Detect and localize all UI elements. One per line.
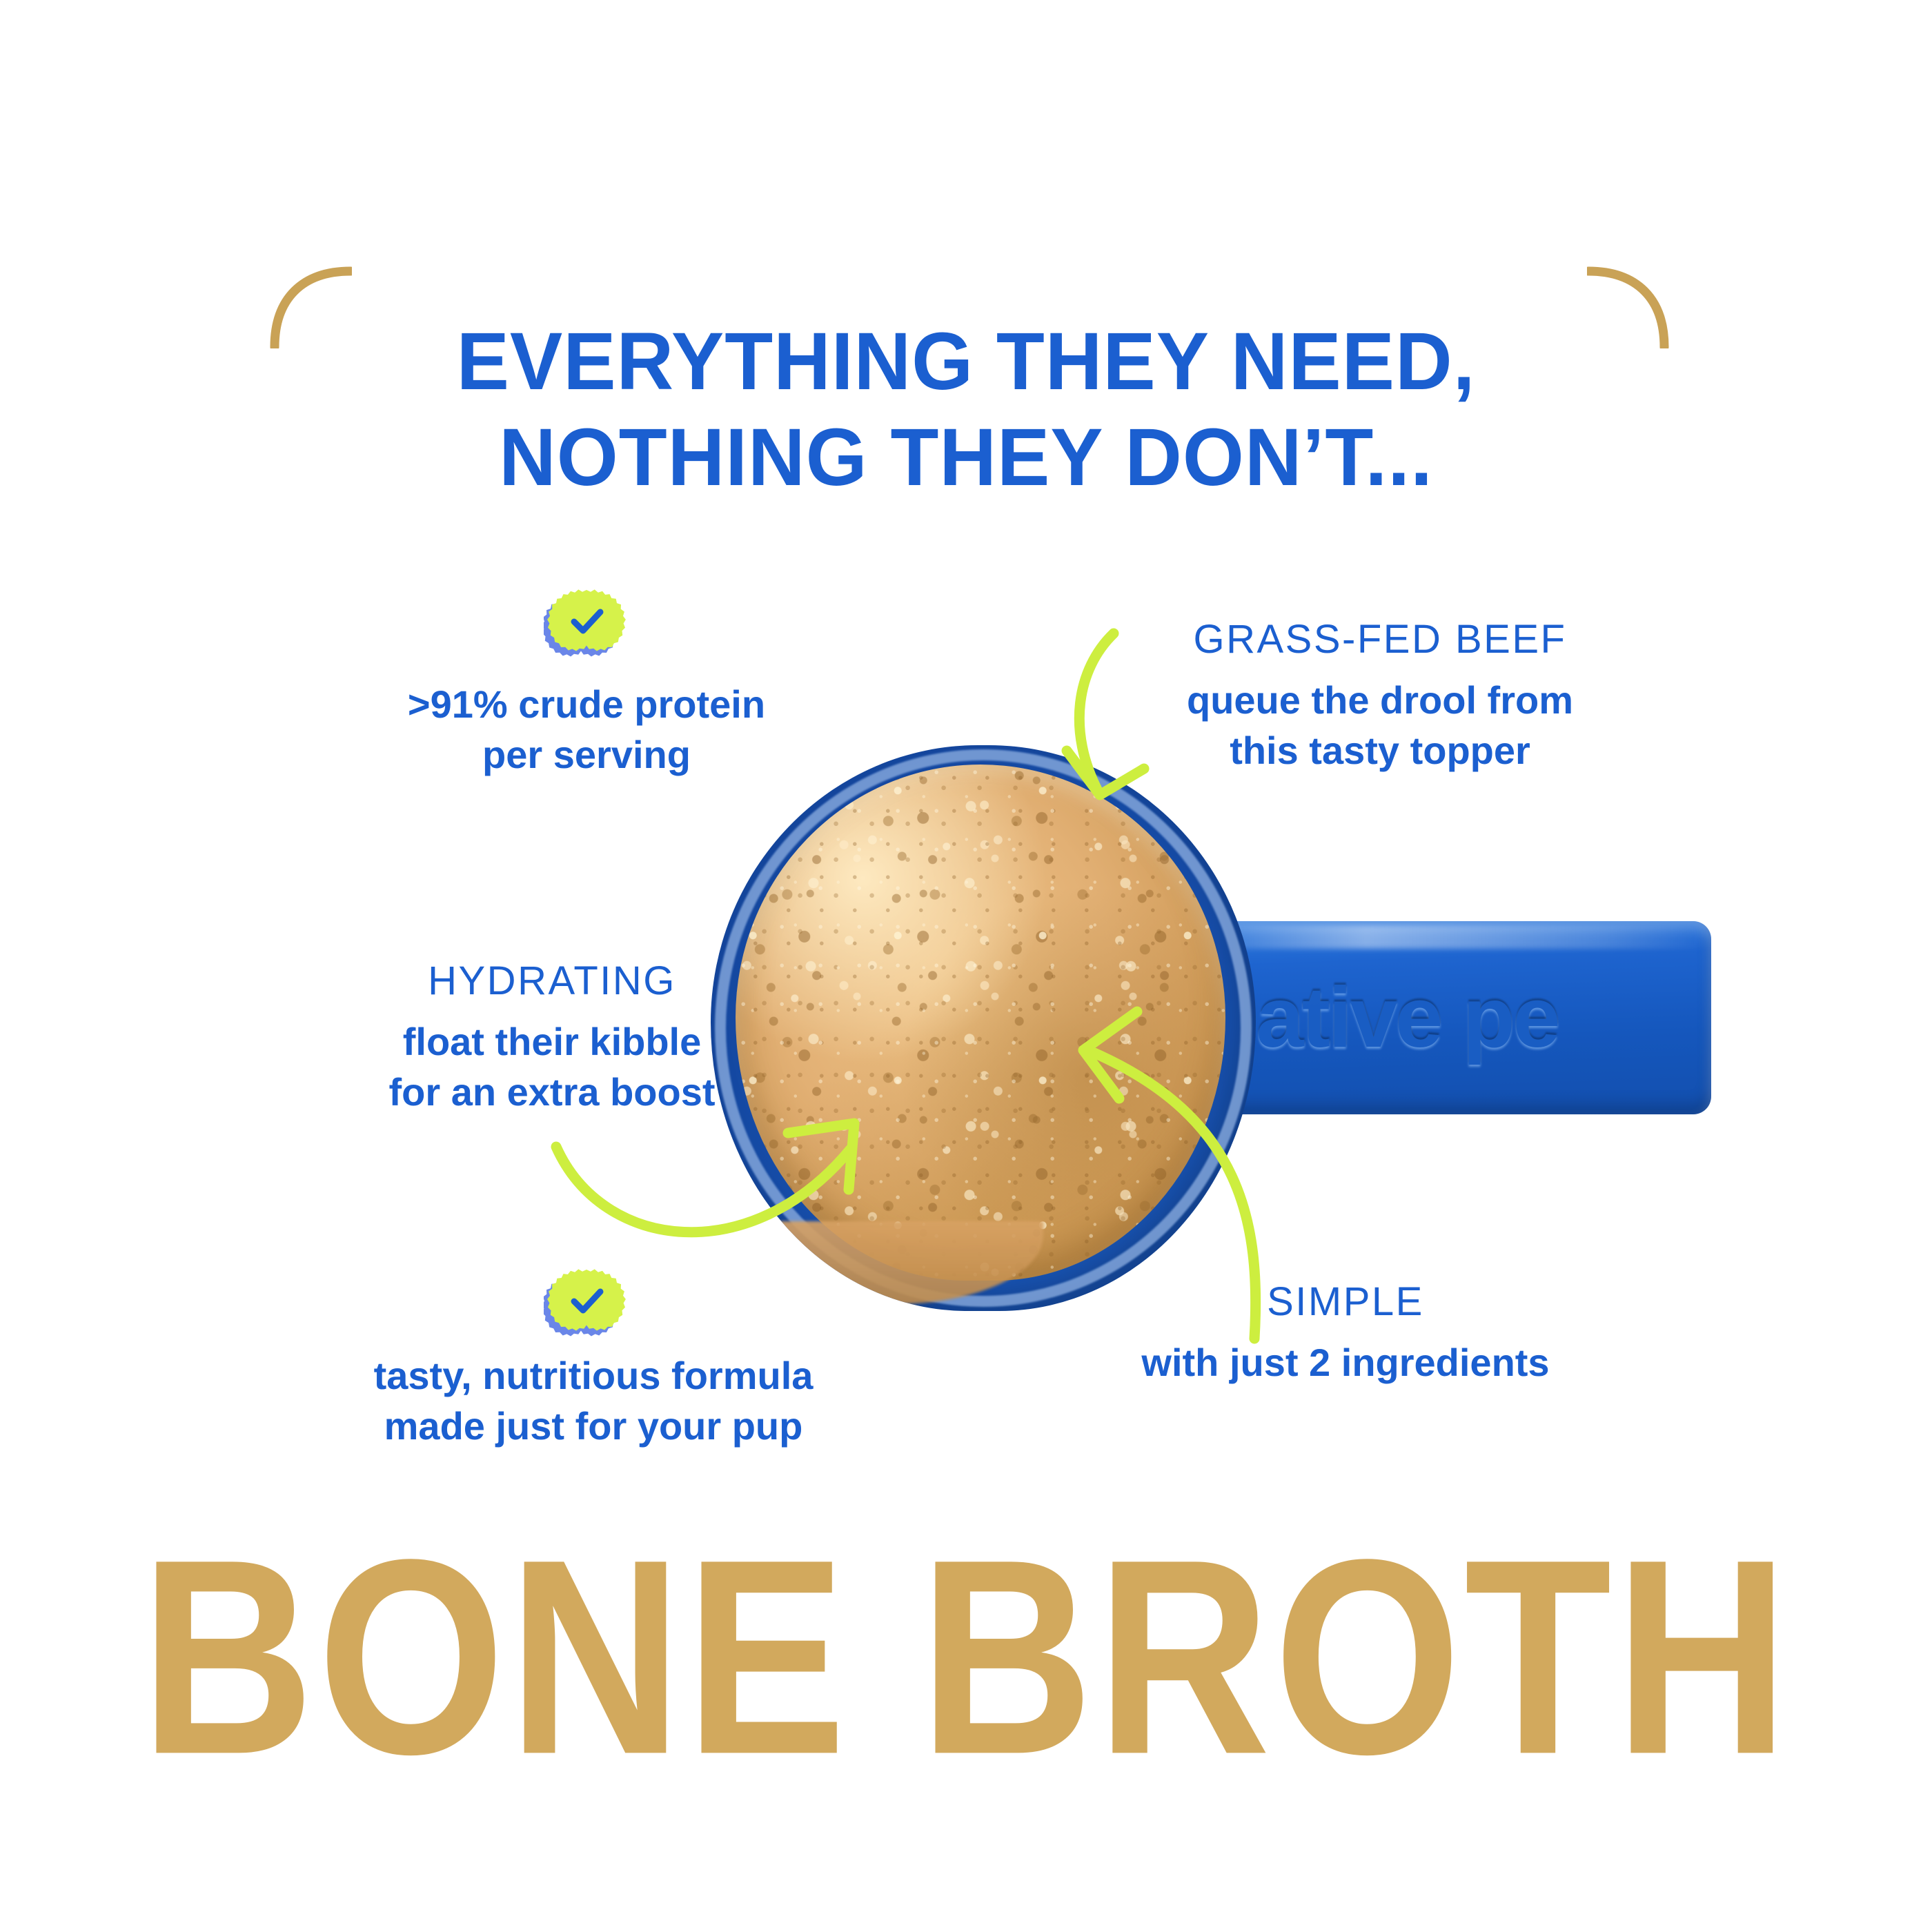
callout-simple-title: SIMPLE <box>1118 1280 1573 1324</box>
callout-simple-body: with just 2 ingredients <box>1118 1338 1573 1388</box>
scoop-handle: native pe <box>1180 921 1711 1114</box>
callout-formula: tasty, nutritious formula made just for … <box>345 1351 842 1452</box>
callout-grass-fed-beef-body: queue the drool from this tasty topper <box>1118 676 1642 776</box>
powder-texture-fine <box>736 765 1225 1281</box>
handle-highlight <box>1180 925 1711 949</box>
callout-protein: >91% crude protein per serving <box>386 680 787 780</box>
scoop-bowl <box>711 745 1256 1311</box>
callout-formula-body: tasty, nutritious formula made just for … <box>345 1351 842 1452</box>
callout-grass-fed-beef: GRASS-FED BEEF queue the drool from this… <box>1118 618 1642 776</box>
page-title: EVERYTHING THEY NEED, NOTHING THEY DON’T… <box>29 314 1903 506</box>
callout-simple: SIMPLE with just 2 ingredients <box>1118 1280 1573 1388</box>
callout-hydrating: HYDRATING float their kibble for an extr… <box>317 959 787 1117</box>
headline-line-2: NOTHING THEY DON’T... <box>29 410 1903 506</box>
callout-protein-body: >91% crude protein per serving <box>386 680 787 780</box>
product-scoop-image: native pe <box>704 738 1711 1318</box>
headline-line-1: EVERYTHING THEY NEED, <box>29 314 1903 410</box>
product-wordmark: BONE BROTH <box>0 1518 1932 1796</box>
check-badge-icon <box>544 582 627 664</box>
product-feature-graphic: EVERYTHING THEY NEED, NOTHING THEY DON’T… <box>0 0 1932 1932</box>
callout-grass-fed-beef-title: GRASS-FED BEEF <box>1118 618 1642 662</box>
scoop-brand-emboss: native pe <box>1206 969 1559 1067</box>
callout-hydrating-title: HYDRATING <box>317 959 787 1003</box>
callout-hydrating-body: float their kibble for an extra boost <box>317 1017 787 1118</box>
bone-broth-powder <box>736 765 1225 1281</box>
check-badge-icon <box>544 1261 627 1344</box>
